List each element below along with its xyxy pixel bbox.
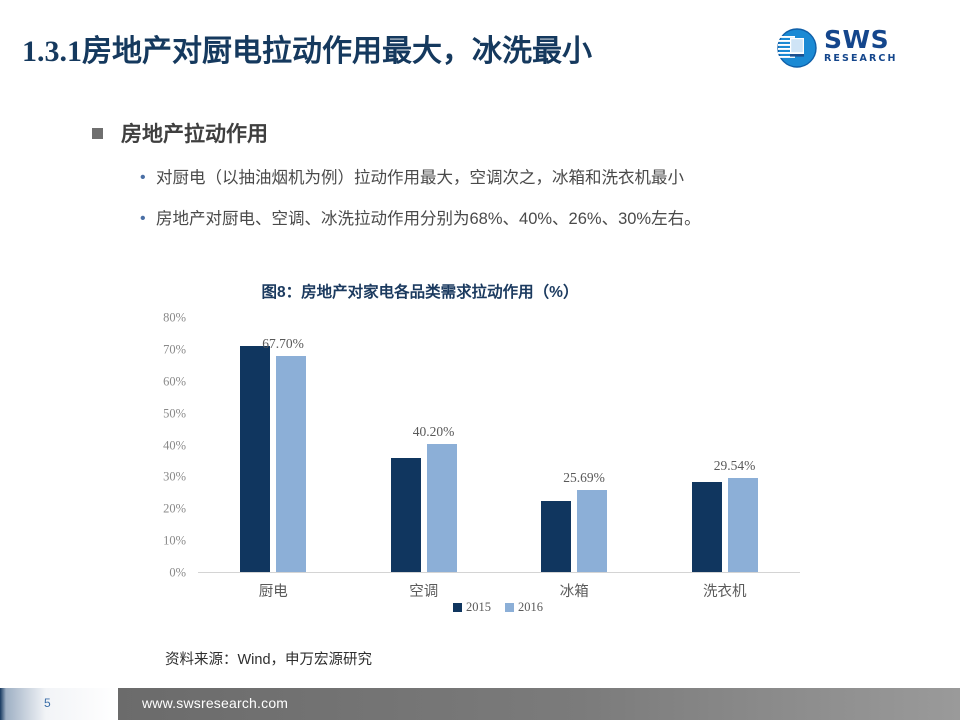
chart-legend: 20152016 bbox=[198, 600, 798, 615]
footer-page-block: 5 bbox=[0, 688, 118, 720]
chart-bar-group: 25.69% bbox=[541, 317, 607, 572]
list-item-label: 房地产对厨电、空调、冰洗拉动作用分别为68%、40%、26%、30%左右。 bbox=[156, 207, 701, 231]
chart-bar-group: 29.54% bbox=[692, 317, 758, 572]
chart-value-label: 25.69% bbox=[563, 470, 605, 486]
chart-bar-2015-厨电 bbox=[240, 346, 270, 572]
chart-value-label: 29.54% bbox=[714, 458, 756, 474]
list-item: • 房地产对厨电、空调、冰洗拉动作用分别为68%、40%、26%、30%左右。 bbox=[140, 207, 880, 231]
chart-bar-2016-空调 bbox=[427, 444, 457, 572]
footer-url-block: www.swsresearch.com bbox=[118, 688, 960, 720]
dot-bullet-icon: • bbox=[140, 207, 156, 231]
page-number: 5 bbox=[44, 696, 51, 710]
chart-bar-2016-冰箱 bbox=[577, 490, 607, 572]
y-axis-tick-label: 50% bbox=[144, 406, 186, 421]
x-axis-category-label: 冰箱 bbox=[499, 580, 650, 601]
chart-block: 图8：房地产对家电各品类需求拉动作用（%） 80%70%60%50%40%30%… bbox=[150, 280, 830, 650]
dot-bullet-icon: • bbox=[140, 166, 156, 190]
x-axis-category-label: 厨电 bbox=[198, 580, 349, 601]
y-axis-tick-label: 80% bbox=[144, 311, 186, 326]
page-title: 1.3.1房地产对厨电拉动作用最大，冰洗最小 bbox=[22, 26, 592, 70]
chart-y-axis: 80%70%60%50%40%30%20%10%0% bbox=[150, 318, 192, 573]
sws-logo-icon bbox=[774, 26, 818, 70]
chart-bar-group: 67.70% bbox=[240, 317, 306, 572]
y-axis-tick-label: 20% bbox=[144, 502, 186, 517]
x-axis-category-label: 空调 bbox=[349, 580, 500, 601]
legend-swatch-icon bbox=[505, 603, 514, 612]
list-item: • 对厨电（以抽油烟机为例）拉动作用最大，空调次之，冰箱和洗衣机最小 bbox=[140, 166, 880, 190]
chart-value-label: 40.20% bbox=[413, 424, 455, 440]
chart-bar-2015-空调 bbox=[391, 458, 421, 572]
chart-bar-2015-冰箱 bbox=[541, 501, 571, 572]
legend-label: 2016 bbox=[518, 600, 543, 615]
chart-bar-2016-洗衣机 bbox=[728, 478, 758, 572]
legend-item-2016[interactable]: 2016 bbox=[505, 600, 543, 615]
chart-bar-2016-厨电 bbox=[276, 356, 306, 572]
list-item-label: 对厨电（以抽油烟机为例）拉动作用最大，空调次之，冰箱和洗衣机最小 bbox=[156, 166, 684, 190]
chart-plot-area: 67.70%40.20%25.69%29.54% bbox=[198, 318, 800, 573]
chart-plot-frame: 80%70%60%50%40%30%20%10%0% 67.70%40.20%2… bbox=[150, 318, 800, 573]
bullet-list: • 对厨电（以抽油烟机为例）拉动作用最大，空调次之，冰箱和洗衣机最小 • 房地产… bbox=[140, 166, 880, 248]
legend-item-2015[interactable]: 2015 bbox=[453, 600, 491, 615]
footer-url[interactable]: www.swsresearch.com bbox=[142, 695, 288, 711]
slide-header: 1.3.1房地产对厨电拉动作用最大，冰洗最小 SWS RESEARCH bbox=[0, 0, 960, 88]
sws-logo-primary: SWS bbox=[824, 27, 916, 53]
square-bullet-icon bbox=[92, 128, 103, 139]
y-axis-tick-label: 70% bbox=[144, 342, 186, 357]
sws-logo-text: SWS RESEARCH bbox=[824, 27, 916, 65]
legend-swatch-icon bbox=[453, 603, 462, 612]
chart-x-axis-line bbox=[198, 572, 800, 573]
y-axis-tick-label: 0% bbox=[144, 566, 186, 581]
chart-bar-group: 40.20% bbox=[391, 317, 457, 572]
sws-logo: SWS RESEARCH bbox=[774, 24, 914, 72]
y-axis-tick-label: 40% bbox=[144, 438, 186, 453]
x-axis-category-label: 洗衣机 bbox=[650, 580, 801, 601]
legend-label: 2015 bbox=[466, 600, 491, 615]
y-axis-tick-label: 30% bbox=[144, 470, 186, 485]
section-heading-label: 房地产拉动作用 bbox=[121, 118, 268, 148]
section-heading: 房地产拉动作用 bbox=[92, 118, 268, 148]
y-axis-tick-label: 10% bbox=[144, 534, 186, 549]
chart-title: 图8：房地产对家电各品类需求拉动作用（%） bbox=[150, 280, 690, 302]
source-note: 资料来源：Wind，申万宏源研究 bbox=[165, 648, 372, 669]
chart-bar-2015-洗衣机 bbox=[692, 482, 722, 572]
slide-footer: 5 www.swsresearch.com bbox=[0, 688, 960, 720]
sws-logo-secondary: RESEARCH bbox=[824, 53, 916, 65]
chart-value-label: 67.70% bbox=[262, 336, 304, 352]
y-axis-tick-label: 60% bbox=[144, 374, 186, 389]
